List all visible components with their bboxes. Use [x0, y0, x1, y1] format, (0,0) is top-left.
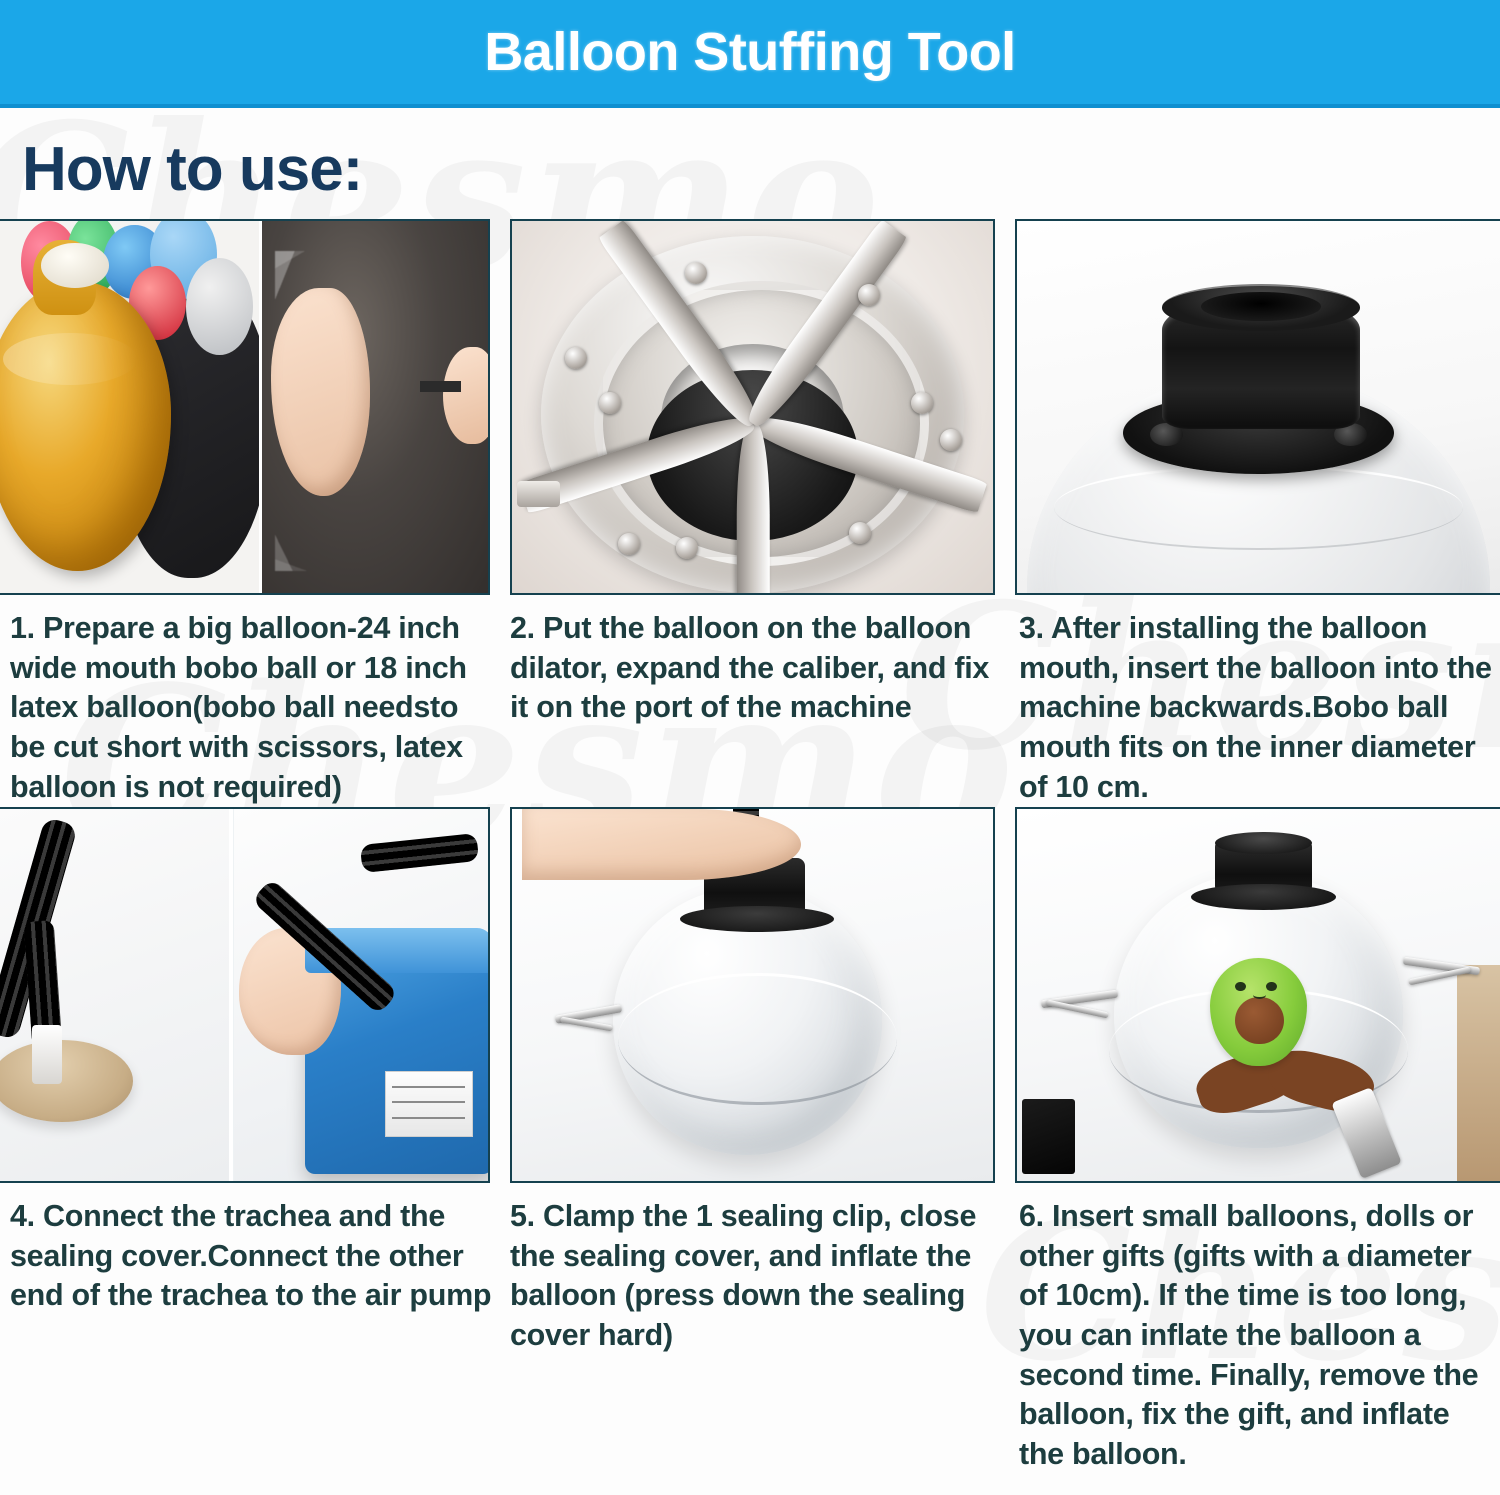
stuffed-chamber-photo [1017, 809, 1500, 1181]
photo-divider [259, 221, 262, 593]
step-5-caption: 5. Clamp the 1 sealing clip, close the s… [500, 1183, 1005, 1356]
air-pump-photo-half [234, 809, 488, 1181]
background-object [1457, 965, 1500, 1181]
avocado-pit [1235, 997, 1283, 1044]
sealing-clip [560, 1017, 613, 1032]
infographic-page: Chesmo Chesmo Chesmo Chesmo Balloon Stuf… [0, 0, 1500, 1495]
chamber-seam [618, 973, 897, 1105]
step-4: 4. Connect the trachea and the sealing c… [0, 807, 500, 1474]
balloon-neck [41, 243, 108, 288]
dilator-photo [512, 221, 993, 593]
step-3: 3. After installing the balloon mouth, i… [1005, 219, 1500, 807]
step-1: 1. Prepare a big balloon-24 inch wide mo… [0, 219, 500, 807]
sealing-chamber-photo [512, 809, 993, 1181]
bolt [676, 537, 698, 559]
avocado-eye [1266, 982, 1277, 992]
hand [522, 809, 801, 880]
step-6-photo [1015, 807, 1500, 1183]
dilator-blade [736, 424, 769, 595]
bolt [599, 392, 621, 414]
scissors [420, 381, 461, 392]
step-1-caption: 1. Prepare a big balloon-24 inch wide mo… [0, 595, 500, 807]
balloon-port-photo [1017, 221, 1500, 593]
plastic-cutting-photo-half [262, 221, 488, 593]
port-flange [1191, 884, 1336, 910]
step-4-caption: 4. Connect the trachea and the sealing c… [0, 1183, 500, 1316]
step-4-photo [0, 807, 490, 1183]
dilator-lever [517, 481, 560, 507]
port-top-ring [1215, 832, 1312, 854]
step-6-caption: 6. Insert small balloons, dolls or other… [1005, 1183, 1500, 1474]
step-3-photo [1015, 219, 1500, 595]
avocado-mouth [1253, 990, 1267, 998]
sealing-clip [1332, 1087, 1403, 1179]
step-3-caption: 3. After installing the balloon mouth, i… [1005, 595, 1500, 807]
bolt [685, 262, 707, 284]
balloons-photo-half [0, 221, 259, 593]
step-2-caption: 2. Put the balloon on the balloon dilato… [500, 595, 1005, 728]
hose-nozzle [32, 1025, 62, 1085]
photo-divider [229, 809, 233, 1181]
avocado-plush-toy [1210, 958, 1307, 1066]
section-heading: How to use: [22, 134, 1500, 205]
port-flange [680, 906, 834, 932]
step-6: 6. Insert small balloons, dolls or other… [1005, 807, 1500, 1474]
air-pump-label [385, 1071, 473, 1136]
colored-balloon [186, 258, 253, 355]
step-2: 2. Put the balloon on the balloon dilato… [500, 219, 1005, 807]
steps-grid: 1. Prepare a big balloon-24 inch wide mo… [0, 219, 1500, 1475]
sealing-cover-disc [0, 1040, 133, 1122]
page-title: Balloon Stuffing Tool [484, 21, 1015, 83]
bolt [849, 522, 871, 544]
step-1-photo [0, 219, 490, 595]
step-5: 5. Clamp the 1 sealing clip, close the s… [500, 807, 1005, 1474]
hose-disc-photo-half [0, 809, 229, 1181]
header-banner: Balloon Stuffing Tool [0, 0, 1500, 104]
avocado-eye [1235, 982, 1246, 992]
trachea-hose [360, 833, 479, 873]
step-5-photo [510, 807, 995, 1183]
banner-underline [0, 104, 1500, 108]
background-object [1022, 1099, 1075, 1173]
step-2-photo [510, 219, 995, 595]
